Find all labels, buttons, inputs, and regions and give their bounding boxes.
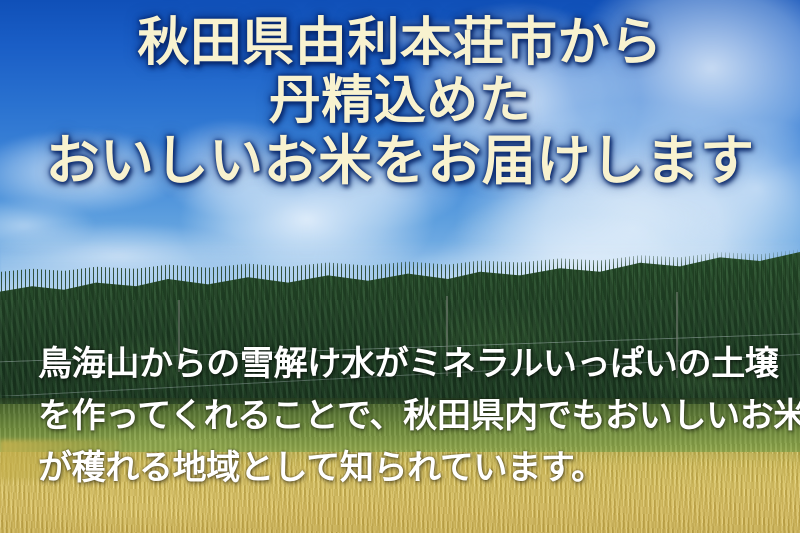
- golden-rice-field-texture: [0, 452, 800, 533]
- golden-rice-field-left-patch: [0, 440, 120, 480]
- utility-pole-left: [178, 300, 180, 372]
- rice-promo-banner: 秋田県由利本荘市から 丹精込めた おいしいお米をお届けします 鳥海山からの雪解け…: [0, 0, 800, 533]
- utility-pole-right: [676, 292, 678, 378]
- power-lines: [0, 300, 800, 396]
- utility-pole-center: [446, 296, 448, 376]
